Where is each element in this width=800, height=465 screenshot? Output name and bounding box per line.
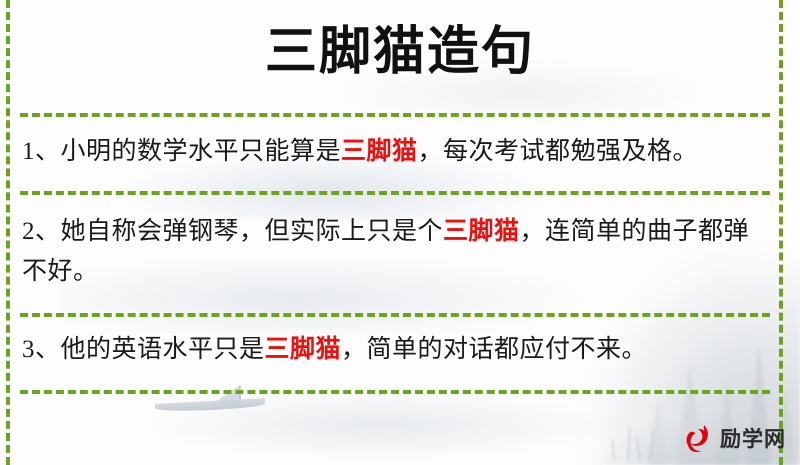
separator-line-2 [20,191,770,195]
sentence-item-2: 2、她自称会弹钢琴，但实际上只是个三脚猫，连简单的曲子都弹不好。 [22,212,770,292]
site-watermark-logo: 励学网 [681,422,786,456]
sentence-text-before: 她自称会弹钢琴，但实际上只是个 [61,218,444,245]
content-area: 三脚猫造句 1、小明的数学水平只能算是三脚猫，每次考试都勉强及格。 2、她自称会… [0,0,800,465]
sentence-text-before: 他的英语水平只是 [61,336,265,363]
sentence-index: 2、 [22,218,61,245]
sentence-item-1: 1、小明的数学水平只能算是三脚猫，每次考试都勉强及格。 [22,132,770,172]
keyword-highlight: 三脚猫 [341,138,418,165]
separator-line-1 [20,113,770,117]
separator-line-4 [20,390,770,394]
sentence-text-after: ，每次考试都勉强及格。 [418,138,699,165]
keyword-highlight: 三脚猫 [265,336,342,363]
sentence-text-before: 小明的数学水平只能算是 [61,138,342,165]
sentence-item-3: 3、他的英语水平只是三脚猫，简单的对话都应付不来。 [22,330,770,370]
frame-border-right [779,0,783,465]
flame-swirl-icon [681,422,715,456]
separator-line-3 [20,313,770,317]
sentence-index: 1、 [22,138,61,165]
page-title: 三脚猫造句 [0,24,800,81]
page-root: 三脚猫造句 1、小明的数学水平只能算是三脚猫，每次考试都勉强及格。 2、她自称会… [0,0,800,465]
site-logo-text: 励学网 [720,429,786,450]
sentence-index: 3、 [22,336,61,363]
sentence-text-after: ，简单的对话都应付不来。 [341,336,647,363]
keyword-highlight: 三脚猫 [443,218,520,245]
frame-border-left [6,0,10,465]
